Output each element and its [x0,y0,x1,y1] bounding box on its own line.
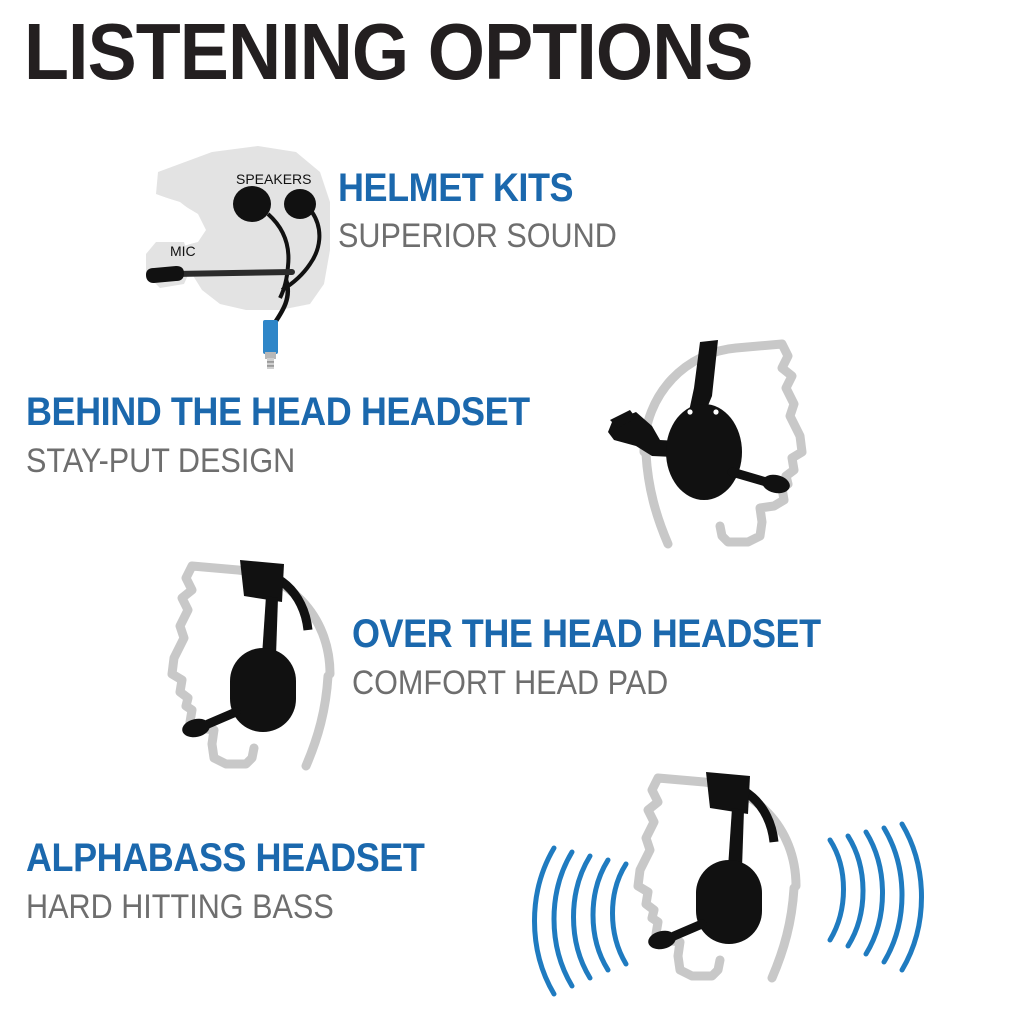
head-crown-left [772,888,794,978]
comfort-head-pad [240,560,284,602]
plug-tip-band [267,361,274,363]
headset-yoke [728,808,744,868]
mic-boom [174,272,292,274]
head-crown-left [306,676,328,766]
speaker-left-icon [233,186,271,222]
alphabass-text-block: ALPHABASS HEADSET HARD HITTING BASS [26,838,469,924]
soundwave-left-group [535,848,627,994]
alphabass-heading: ALPHABASS HEADSET [26,838,424,878]
helmet-kits-subtitle: SUPERIOR SOUND [338,219,617,253]
helmet-kits-heading: HELMET KITS [338,168,617,208]
over-the-head-heading: OVER THE HEAD HEADSET [352,614,821,654]
ear-cup [696,860,762,944]
behind-the-head-text-block: BEHIND THE HEAD HEADSET STAY-PUT DESIGN [26,392,586,478]
soundwave-right-2 [848,836,863,946]
head-neck-right [646,454,668,544]
soundwave-right-1 [830,840,844,940]
soundwave-right-3 [866,832,883,954]
boom-mic-arm [674,924,702,936]
helmet-kit-illustration: SPEAKERS MIC [140,138,370,378]
ear-cup-screw-right [713,409,718,414]
behind-the-head-heading: BEHIND THE HEAD HEADSET [26,392,530,432]
ear-cup-screw-left [687,409,692,414]
mic-label: MIC [170,243,196,259]
comfort-head-pad [706,772,750,814]
plug-tip-band-2 [267,365,274,367]
soundwave-right-group [830,824,922,970]
infographic-canvas: LISTENING OPTIONS SPEAKERS MIC [0,0,1024,1024]
alphabass-headset-illustration [538,768,918,1018]
behind-the-head-subtitle: STAY-PUT DESIGN [26,444,530,478]
soundwave-left-1 [613,864,627,964]
ear-cup [230,648,296,732]
soundwave-right-4 [884,828,902,962]
soundwave-left-5 [535,848,555,994]
ear-cup [666,404,742,500]
speakers-label: SPEAKERS [236,171,311,187]
helmet-kits-text-block: HELMET KITS SUPERIOR SOUND [338,168,648,253]
speaker-right-icon [284,189,316,219]
boom-mic-arm [732,472,766,482]
soundwave-left-3 [574,856,591,978]
soundwave-right-5 [902,824,922,970]
over-the-head-text-block: OVER THE HEAD HEADSET COMFORT HEAD PAD [352,614,873,700]
headset-yoke [262,596,278,656]
behind-the-head-headset-illustration [596,330,846,580]
over-the-head-headset-illustration [152,552,382,792]
alphabass-subtitle: HARD HITTING BASS [26,890,424,924]
over-the-head-subtitle: COMFORT HEAD PAD [352,666,821,700]
plug-collar [265,352,276,359]
soundwave-left-4 [554,852,572,986]
soundwave-left-2 [593,860,608,970]
plug-body [263,320,278,354]
page-title: LISTENING OPTIONS [24,12,753,92]
mic-capsule [146,266,184,283]
boom-mic-arm [208,712,236,724]
plug-tip [267,358,274,369]
